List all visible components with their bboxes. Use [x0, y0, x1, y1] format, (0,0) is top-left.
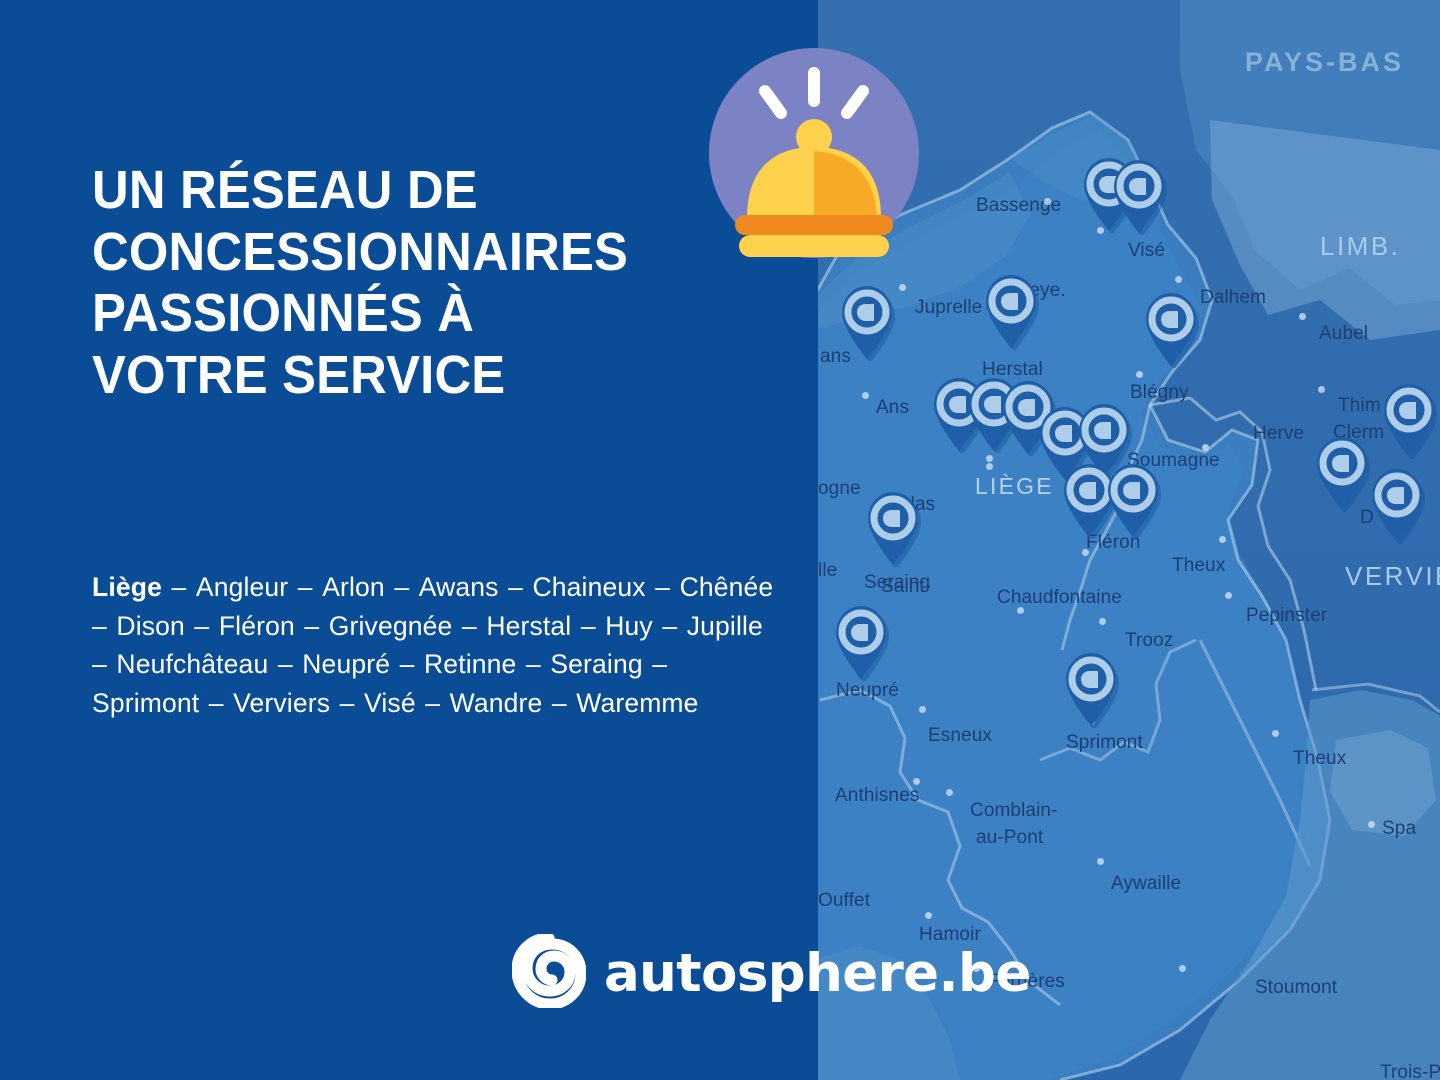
map-city-label: Theux: [1172, 556, 1225, 577]
map-city-dot: [1225, 592, 1232, 599]
map-city-label: Herve: [1253, 424, 1304, 445]
map-city-label: Anthisnes: [835, 786, 919, 807]
city-name: Dison: [116, 611, 185, 641]
dealer-city-list: Liège – Angleur – Arlon – Awans – Chaine…: [92, 568, 782, 723]
map-city-label: Trois-Po: [1380, 1063, 1440, 1080]
city-name: Waremme: [576, 688, 698, 718]
map-city-dot: [919, 706, 926, 713]
map-city-dot: [925, 912, 932, 919]
city-name: Huy: [605, 611, 653, 641]
city-name: Awans: [419, 572, 499, 602]
map-dealer-pin[interactable]: [836, 283, 898, 361]
map-city-dot: [1099, 618, 1106, 625]
city-name: Retinne: [424, 649, 516, 679]
map-city-label: Stoumont: [1255, 978, 1337, 999]
city-separator: –: [185, 611, 219, 641]
city-separator: –: [268, 649, 302, 679]
map-dealer-pin[interactable]: [1378, 381, 1440, 459]
city-name: Seraing: [550, 649, 642, 679]
city-separator: –: [390, 649, 424, 679]
map-city-dot: [1219, 536, 1226, 543]
autosphere-swirl-icon: [512, 934, 586, 1008]
city-separator: –: [653, 611, 687, 641]
map-city-label: Dalhem: [1200, 288, 1266, 309]
map-city-dot: [1179, 965, 1186, 972]
map-city-dot: [899, 284, 906, 291]
map-country-label: PAYS-BAS: [1245, 48, 1404, 77]
map-city-label: Comblain-: [970, 801, 1058, 822]
map-dealer-pin[interactable]: [1060, 650, 1122, 728]
map-city-dot: [913, 778, 920, 785]
map-city-label: Spa: [1382, 819, 1416, 840]
map-dealer-pin[interactable]: [1140, 290, 1202, 368]
city-separator: –: [542, 688, 576, 718]
map-dealer-pin[interactable]: [862, 489, 924, 567]
map-city-dot: [862, 392, 869, 399]
city-name: Chênée: [680, 572, 774, 602]
map-city-label: Neupré: [836, 681, 899, 702]
city-name: Sprimont: [92, 688, 199, 718]
city-separator: –: [571, 611, 605, 641]
headline-line-4: VOTRE SERVICE: [92, 345, 712, 407]
city-name: Fléron: [219, 611, 295, 641]
map-city-label: Aubel: [1319, 324, 1368, 345]
map-region-label: LIMB.: [1320, 232, 1400, 260]
map-city-label: Ans: [876, 398, 909, 419]
map-city-label: Juprelle: [915, 298, 982, 319]
poster-root: PAYS-BAS LIMB.VERVIERSLIÈGE BassengeVisé…: [0, 0, 1440, 1080]
bell-base-yellow: [739, 235, 889, 257]
service-bell-icon: [707, 43, 921, 271]
city-separator: –: [385, 572, 419, 602]
brand-logo[interactable]: autosphere.be: [512, 932, 1031, 1010]
city-name: Chaineux: [532, 572, 645, 602]
map-city-label: Visé: [1128, 241, 1165, 262]
map-city-dot: [1368, 821, 1375, 828]
map-city-label: Blégny: [1130, 383, 1189, 404]
map-region-label: VERVIERS: [1345, 562, 1440, 590]
map-city-label: ogne: [818, 479, 861, 500]
map-city-label: Sprimont: [1066, 733, 1143, 754]
map-city-dot: [986, 455, 993, 462]
city-separator: –: [288, 572, 322, 602]
map-city-label: Seraing: [864, 573, 930, 594]
city-separator: –: [295, 611, 329, 641]
map-dealer-pin[interactable]: [830, 603, 892, 681]
map-city-label: au-Pont: [976, 828, 1043, 849]
map-city-dot: [986, 463, 993, 470]
map-dealer-pin[interactable]: [980, 272, 1042, 350]
map-city-label: Chaudfontaine: [997, 588, 1122, 609]
map-city-dot: [1318, 386, 1325, 393]
city-name: Neupré: [302, 649, 390, 679]
city-separator: –: [516, 649, 550, 679]
map-city-label: Theux: [1293, 749, 1346, 770]
city-name: Herstal: [486, 611, 571, 641]
map-city-label: Trooz: [1125, 631, 1173, 652]
city-name: Wandre: [450, 688, 543, 718]
city-name: Angleur: [196, 572, 288, 602]
map-city-dot: [1017, 607, 1024, 614]
map-dealer-pin[interactable]: [1108, 157, 1170, 235]
service-bell-badge: [707, 43, 921, 271]
city-name: Visé: [364, 688, 416, 718]
map-city-label: Thim: [1338, 396, 1381, 417]
city-lead: Liège: [92, 572, 162, 602]
city-name: Arlon: [322, 572, 385, 602]
city-separator: –: [330, 688, 364, 718]
city-separator: –: [452, 611, 486, 641]
map-city-dot: [1097, 858, 1104, 865]
map-city-label: Ouffet: [818, 891, 870, 912]
map-city-label: Aywaille: [1111, 874, 1181, 895]
city-name: Neufchâteau: [116, 649, 268, 679]
map-city-dot: [1136, 371, 1143, 378]
map-city-dot: [946, 789, 953, 796]
city-separator: –: [646, 572, 680, 602]
page-title: UN RÉSEAU DE CONCESSIONNAIRES PASSIONNÉS…: [92, 160, 712, 406]
city-separator: –: [643, 649, 669, 679]
map-dealer-pin[interactable]: [1102, 461, 1164, 539]
city-name: Jupille: [687, 611, 763, 641]
map-city-label: Pepinster: [1246, 606, 1327, 627]
brand-logo-text: autosphere.be: [604, 947, 1031, 1000]
map-city-dot: [1044, 198, 1051, 205]
map-city-dot: [1299, 313, 1306, 320]
headline-line-3: PASSIONNÉS À: [92, 283, 712, 345]
bell-base-orange: [735, 215, 893, 235]
city-separator: –: [499, 572, 533, 602]
map-city-label: Esneux: [928, 726, 992, 747]
map-city-label: lle: [818, 561, 837, 582]
city-name: Verviers: [233, 688, 330, 718]
city-separator: –: [162, 572, 196, 602]
map-dealer-pin[interactable]: [1366, 466, 1428, 544]
map-city-dot: [1272, 730, 1279, 737]
map-dealer-pin[interactable]: [1311, 434, 1373, 512]
city-separator: –: [416, 688, 450, 718]
city-name: Grivegnée: [329, 611, 453, 641]
headline-line-2: CONCESSIONNAIRES: [92, 222, 712, 284]
map-city-dot: [1082, 549, 1089, 556]
city-separator: –: [199, 688, 233, 718]
map-city-dot: [1175, 276, 1182, 283]
headline-line-1: UN RÉSEAU DE: [92, 160, 712, 222]
map-city-dot: [1202, 444, 1209, 451]
